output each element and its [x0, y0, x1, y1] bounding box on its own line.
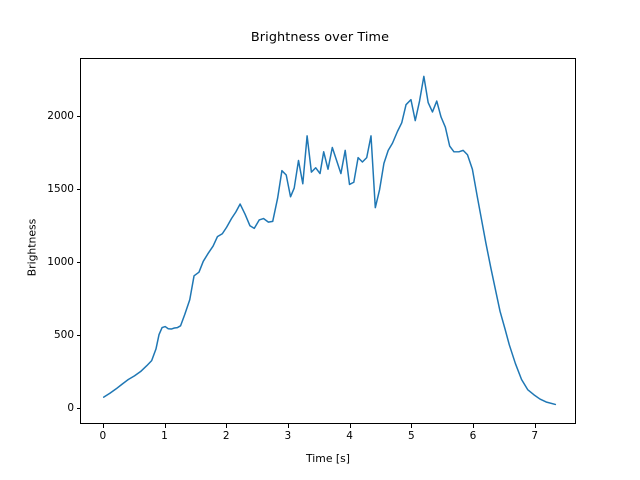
- x-tick-mark: [473, 424, 474, 428]
- y-tick-mark: [77, 262, 81, 263]
- x-tick-mark: [350, 424, 351, 428]
- y-tick-label: 0: [32, 402, 74, 414]
- x-tick-label: 1: [161, 430, 168, 442]
- x-tick-mark: [165, 424, 166, 428]
- y-tick-mark: [77, 408, 81, 409]
- x-tick-label: 0: [99, 430, 106, 442]
- x-tick-mark: [288, 424, 289, 428]
- x-tick-mark: [226, 424, 227, 428]
- y-tick-label: 2000: [32, 110, 74, 122]
- x-tick-label: 6: [470, 430, 477, 442]
- x-tick-label: 7: [531, 430, 538, 442]
- x-tick-mark: [535, 424, 536, 428]
- chart-title: Brightness over Time: [0, 30, 640, 45]
- plot-area: [80, 58, 576, 424]
- data-series-line: [104, 76, 556, 404]
- x-tick-label: 5: [408, 430, 415, 442]
- y-tick-mark: [77, 189, 81, 190]
- x-tick-mark: [411, 424, 412, 428]
- y-tick-mark: [77, 116, 81, 117]
- x-tick-label: 3: [285, 430, 292, 442]
- y-tick-mark: [77, 335, 81, 336]
- x-axis-label: Time [s]: [80, 452, 576, 465]
- plot-svg: [81, 59, 575, 423]
- chart-figure: Brightness over Time 01234567 0500100015…: [0, 0, 640, 480]
- y-axis-label: Brightness: [26, 188, 39, 308]
- x-tick-label: 4: [346, 430, 353, 442]
- y-tick-label: 500: [32, 329, 74, 341]
- x-tick-mark: [103, 424, 104, 428]
- x-tick-label: 2: [223, 430, 230, 442]
